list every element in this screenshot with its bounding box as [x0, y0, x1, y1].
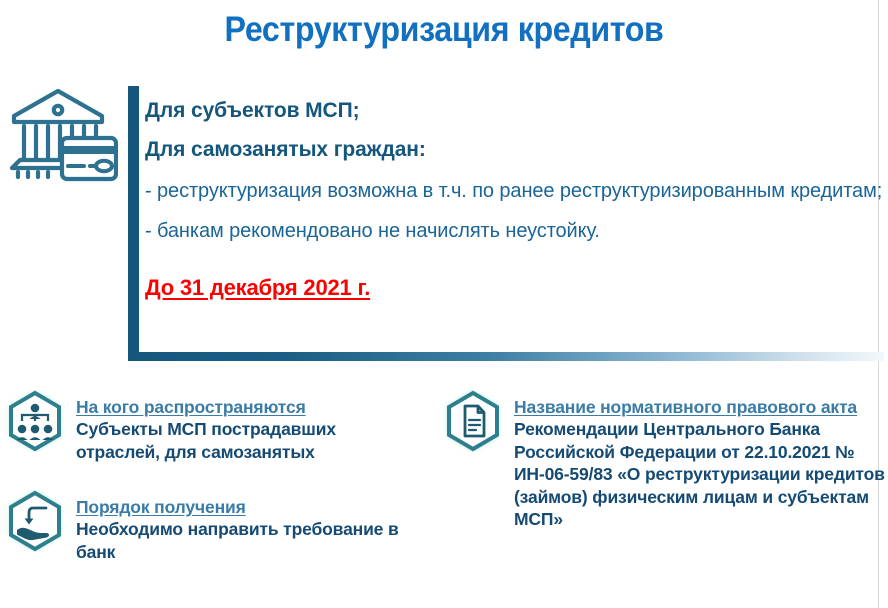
- deadline-text: До 31 декабря 2021 г.: [145, 275, 885, 301]
- document-icon: [442, 390, 504, 452]
- card-process: Порядок получения Необходимо направить т…: [4, 490, 424, 563]
- bank-credit-card-icon: [6, 82, 118, 186]
- hand-receive-arrow-icon: [4, 490, 66, 552]
- card-audience-body: Субъекты МСП пострадавших отраслей, для …: [76, 418, 424, 463]
- main-content-block: Для субъектов МСП; Для самозанятых гражд…: [145, 100, 885, 301]
- card-process-text: Порядок получения Необходимо направить т…: [76, 490, 424, 563]
- card-audience-text: На кого распространяются Субъекты МСП по…: [76, 390, 424, 463]
- heading-self-employed: Для самозанятых граждан:: [145, 139, 885, 160]
- bullet-restructuring: - реструктуризация возможна в т.ч. по ра…: [145, 178, 885, 204]
- card-process-title: Порядок получения: [76, 496, 424, 518]
- slide-canvas: Реструктуризация кредитов Для субъектов …: [0, 0, 888, 608]
- card-legal-act: Название нормативного правового акта Рек…: [442, 390, 888, 530]
- accent-bar-vertical: [128, 86, 139, 361]
- people-org-chart-icon: [4, 390, 66, 452]
- card-process-body: Необходимо направить требование в банк: [76, 518, 424, 563]
- card-legal-act-title: Название нормативного правового акта: [514, 396, 888, 418]
- card-audience: На кого распространяются Субъекты МСП по…: [4, 390, 424, 463]
- heading-msp: Для субъектов МСП;: [145, 100, 885, 121]
- card-legal-act-body: Рекомендации Центрального Банка Российск…: [514, 418, 888, 530]
- card-legal-act-text: Название нормативного правового акта Рек…: [514, 390, 888, 530]
- page-title: Реструктуризация кредитов: [36, 10, 853, 50]
- card-audience-title: На кого распространяются: [76, 396, 424, 418]
- accent-bar-horizontal: [128, 352, 884, 361]
- bullet-no-penalty: - банкам рекомендовано не начислять неус…: [145, 218, 885, 244]
